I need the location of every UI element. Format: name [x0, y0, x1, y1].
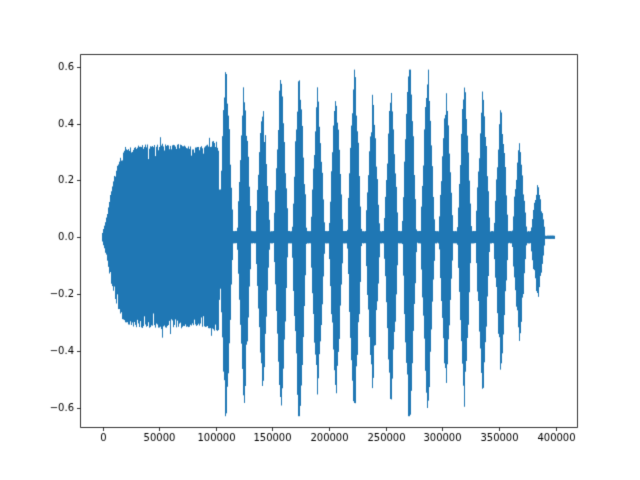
waveform-plot-canvas	[0, 0, 640, 480]
matplotlib-figure: 0500001000001500002000002500003000003500…	[0, 0, 640, 480]
